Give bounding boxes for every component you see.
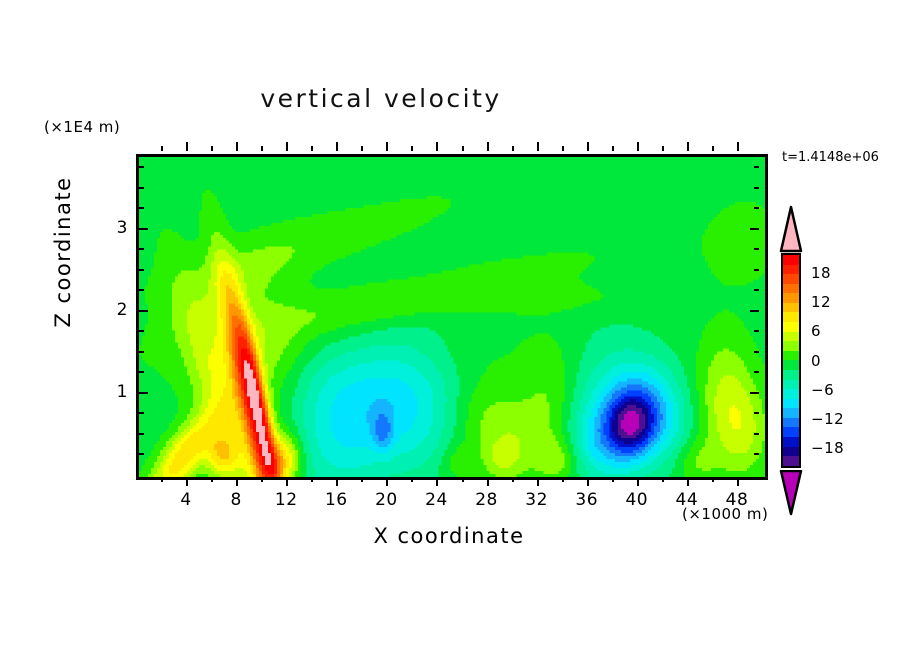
- y-tick-right: [754, 166, 759, 168]
- x-tick: [462, 477, 464, 482]
- x-tick: [662, 477, 664, 482]
- x-tick: [161, 477, 163, 482]
- x-tick-top: [311, 146, 313, 151]
- x-tick: [186, 477, 188, 486]
- x-tick: [411, 477, 413, 482]
- colorbar-tick-label: 18: [811, 264, 831, 282]
- y-tick-right: [754, 371, 759, 373]
- x-tick-top: [211, 146, 213, 151]
- y-tick: [139, 433, 144, 435]
- x-tick: [311, 477, 313, 482]
- colorbar-band: [783, 303, 799, 313]
- x-tick: [261, 477, 263, 482]
- y-tick-right: [750, 228, 759, 230]
- x-tick-top: [637, 142, 639, 151]
- plot-frame: [136, 154, 768, 480]
- colorbar-band: [783, 447, 799, 457]
- colorbar: 181260−6−12−18: [777, 205, 805, 515]
- x-tick: [537, 477, 539, 486]
- x-tick-label: 16: [325, 490, 348, 510]
- timestamp-annotation: t=1.4148e+06: [782, 150, 879, 165]
- x-tick-label: 44: [676, 490, 699, 510]
- x-tick-label: 28: [475, 490, 498, 510]
- y-tick-label: 1: [104, 382, 128, 402]
- x-tick-label: 24: [425, 490, 448, 510]
- x-tick-top: [436, 142, 438, 151]
- x-tick: [612, 477, 614, 482]
- colorbar-band: [783, 341, 799, 351]
- y-tick-right: [754, 453, 759, 455]
- colorbar-band: [783, 351, 799, 361]
- colorbar-band: [783, 284, 799, 294]
- y-tick: [139, 453, 144, 455]
- y-tick: [139, 310, 148, 312]
- x-tick: [712, 477, 714, 482]
- x-tick-top: [261, 146, 263, 151]
- x-tick-top: [562, 146, 564, 151]
- x-tick-top: [236, 142, 238, 151]
- y-tick-right: [754, 433, 759, 435]
- y-tick-right: [754, 187, 759, 189]
- colorbar-band: [783, 408, 799, 418]
- x-tick-label: 40: [625, 490, 648, 510]
- y-tick-label: 3: [104, 218, 128, 238]
- colorbar-band: [783, 456, 799, 466]
- x-tick-label: 48: [726, 490, 749, 510]
- x-tick-label: 12: [275, 490, 298, 510]
- x-tick-top: [462, 146, 464, 151]
- y-tick-right: [754, 269, 759, 271]
- colorbar-band: [783, 370, 799, 380]
- y-tick-right: [754, 289, 759, 291]
- x-tick: [286, 477, 288, 486]
- x-tick: [236, 477, 238, 486]
- y-tick-right: [754, 207, 759, 209]
- x-tick-top: [512, 146, 514, 151]
- x-tick: [687, 477, 689, 486]
- y-tick: [139, 228, 148, 230]
- x-tick: [562, 477, 564, 482]
- colorbar-band: [783, 427, 799, 437]
- x-tick-top: [186, 142, 188, 151]
- x-tick-top: [336, 142, 338, 151]
- colorbar-tick-label: −6: [811, 381, 834, 399]
- x-tick: [587, 477, 589, 486]
- y-tick: [139, 371, 144, 373]
- contour-field: [139, 157, 765, 477]
- colorbar-under-cap: [779, 470, 803, 520]
- y-tick-right: [754, 248, 759, 250]
- x-tick: [361, 477, 363, 482]
- colorbar-band: [783, 437, 799, 447]
- x-tick: [211, 477, 213, 482]
- x-tick: [737, 477, 739, 486]
- x-tick-top: [687, 142, 689, 151]
- x-tick-top: [361, 146, 363, 151]
- x-tick-top: [161, 146, 163, 151]
- y-tick: [139, 207, 144, 209]
- y-tick: [139, 289, 144, 291]
- x-tick: [637, 477, 639, 486]
- y-tick: [139, 248, 144, 250]
- x-tick-label: 36: [575, 490, 598, 510]
- x-tick-top: [537, 142, 539, 151]
- colorbar-over-cap: [779, 205, 803, 257]
- x-tick-top: [712, 146, 714, 151]
- x-tick-top: [386, 142, 388, 151]
- y-tick-right: [754, 351, 759, 353]
- x-tick: [487, 477, 489, 486]
- x-tick-label: 20: [375, 490, 398, 510]
- colorbar-bands: [781, 253, 801, 468]
- y-tick: [139, 187, 144, 189]
- colorbar-tick-label: −18: [811, 439, 844, 457]
- colorbar-band: [783, 293, 799, 303]
- y-tick-right: [750, 310, 759, 312]
- y-tick: [139, 269, 144, 271]
- y-tick: [139, 392, 148, 394]
- y-tick-right: [754, 412, 759, 414]
- x-tick-label: 4: [180, 490, 191, 510]
- colorbar-tick-label: 6: [811, 322, 821, 340]
- y-axis-unit-label: (×1E4 m): [44, 118, 120, 136]
- y-tick: [139, 351, 144, 353]
- colorbar-tick-label: 12: [811, 293, 831, 311]
- y-tick: [139, 330, 144, 332]
- colorbar-band: [783, 332, 799, 342]
- colorbar-tick-label: 0: [811, 352, 821, 370]
- x-tick: [436, 477, 438, 486]
- colorbar-band: [783, 322, 799, 332]
- colorbar-band: [783, 265, 799, 275]
- x-tick-top: [612, 146, 614, 151]
- x-tick: [336, 477, 338, 486]
- x-tick-label: 8: [230, 490, 241, 510]
- colorbar-band: [783, 274, 799, 284]
- colorbar-band: [783, 380, 799, 390]
- y-tick: [139, 166, 144, 168]
- colorbar-tick-label: −12: [811, 410, 844, 428]
- x-tick-top: [411, 146, 413, 151]
- chart-title: vertical velocity: [0, 84, 762, 113]
- colorbar-band: [783, 255, 799, 265]
- colorbar-band: [783, 399, 799, 409]
- colorbar-band: [783, 360, 799, 370]
- x-axis-title: X coordinate: [136, 524, 762, 548]
- x-tick-top: [487, 142, 489, 151]
- y-tick-label: 2: [104, 300, 128, 320]
- y-tick-right: [754, 330, 759, 332]
- colorbar-band: [783, 312, 799, 322]
- y-tick-right: [750, 392, 759, 394]
- colorbar-band: [783, 418, 799, 428]
- x-tick: [386, 477, 388, 486]
- y-tick: [139, 412, 144, 414]
- y-axis-title: Z coordinate: [51, 137, 75, 367]
- x-tick-top: [737, 142, 739, 151]
- colorbar-band: [783, 389, 799, 399]
- x-tick-top: [587, 142, 589, 151]
- x-tick-top: [286, 142, 288, 151]
- x-tick-label: 32: [525, 490, 548, 510]
- x-tick-top: [662, 146, 664, 151]
- x-tick: [512, 477, 514, 482]
